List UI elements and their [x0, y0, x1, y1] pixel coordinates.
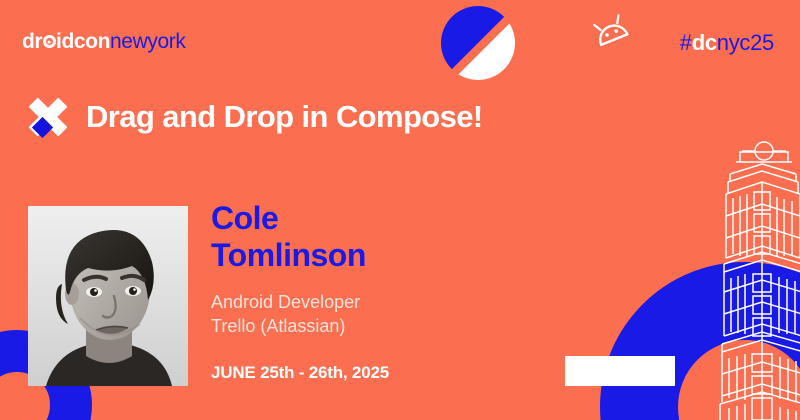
- logo-newyork: newyork: [110, 30, 185, 53]
- circle-blue-half: [441, 6, 515, 80]
- speaker-portrait-image: [28, 206, 188, 386]
- talk-title-row: Drag and Drop in Compose!: [22, 92, 483, 142]
- flatiron-building-illustration: [700, 140, 800, 420]
- white-rectangle-block: [565, 356, 675, 386]
- speaker-details: Cole Tomlinson Android Developer Trello …: [211, 200, 541, 383]
- speaker-photo: [28, 206, 188, 386]
- hashtag-nyc25: nyc25: [717, 30, 774, 55]
- droidcon-circle-mark: [441, 6, 515, 80]
- speaker-name: Cole Tomlinson: [211, 200, 541, 274]
- hashtag-symbol: #: [680, 30, 692, 55]
- logo-droidcon-part2: idcon: [56, 30, 110, 53]
- blue-ring-right: [600, 262, 800, 420]
- event-hashtag: #dcnyc25: [680, 30, 774, 56]
- speaker-role: Android Developer Trello (Atlassian): [211, 291, 541, 339]
- logo-dotted-o-icon: [43, 35, 56, 48]
- circle-white-half: [441, 6, 515, 80]
- speaker-name-line2: Tomlinson: [211, 237, 541, 274]
- android-robot-icon: [588, 14, 636, 54]
- speaker-role-title: Android Developer: [211, 291, 541, 315]
- speaker-role-company: Trello (Atlassian): [211, 315, 541, 339]
- talk-title: Drag and Drop in Compose!: [86, 99, 483, 135]
- droidcon-x-mark: [22, 92, 74, 142]
- droidcon-newyork-logo: dridconnewyork: [22, 30, 185, 54]
- event-date: JUNE 25th - 26th, 2025: [211, 363, 541, 383]
- logo-droidcon-part1: dr: [22, 30, 42, 53]
- hashtag-dc: dc: [692, 30, 717, 55]
- event-speaker-card: dridconnewyork #dcnyc25 Drag and Drop in…: [0, 0, 800, 420]
- speaker-name-line1: Cole: [211, 200, 541, 237]
